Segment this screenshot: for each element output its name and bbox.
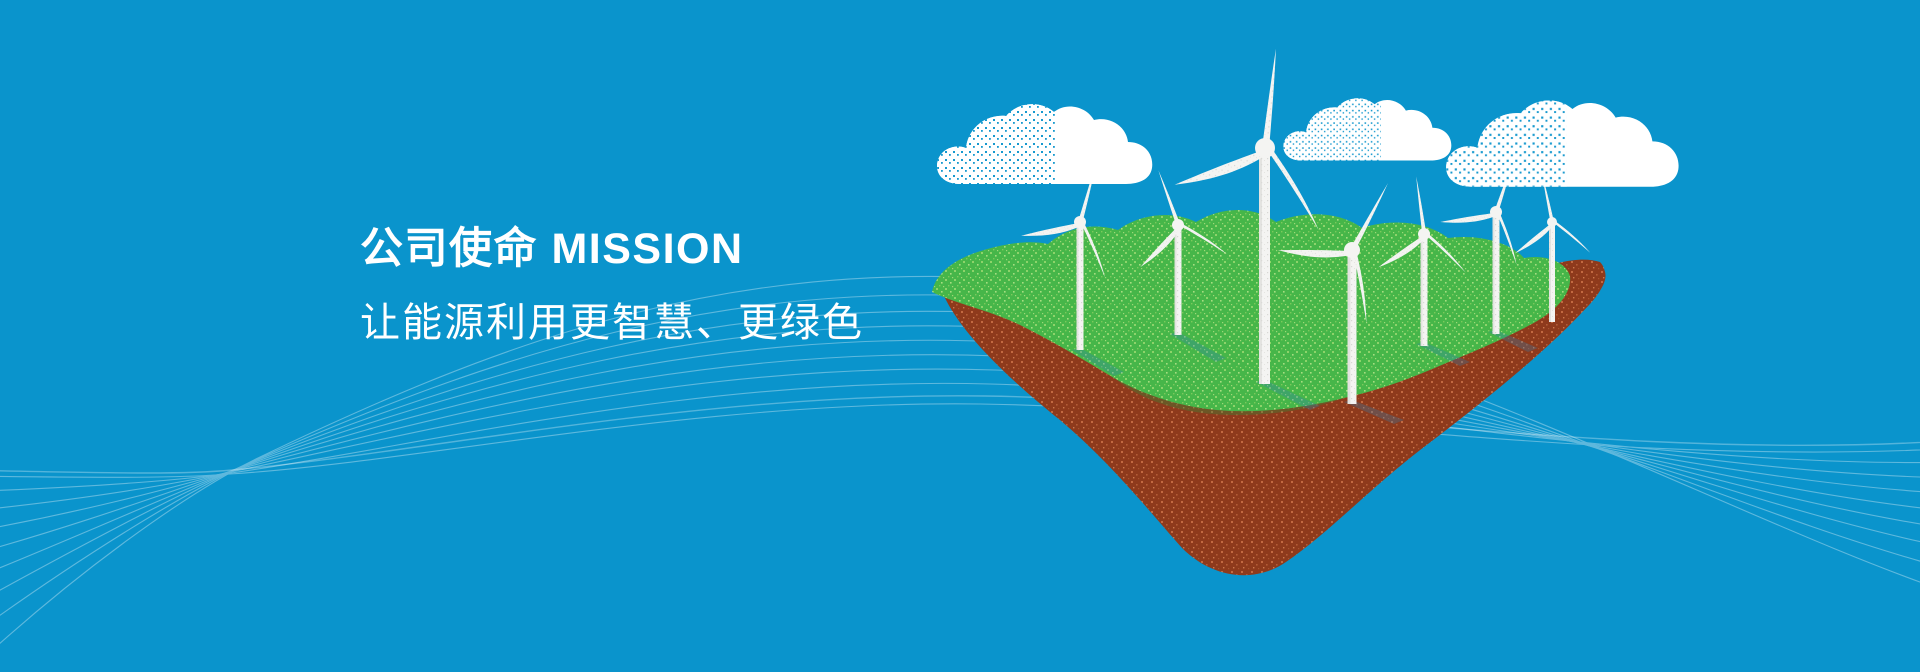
cloud-left [937, 104, 1152, 184]
turbine-3 [1172, 40, 1338, 384]
cloud-right [1446, 100, 1678, 186]
wind-turbines-group [1016, 40, 1590, 404]
page-title: 公司使命 MISSION [360, 224, 980, 275]
clouds-group [937, 98, 1679, 187]
turbine-2 [1111, 158, 1227, 335]
turbine-4 [1267, 152, 1429, 404]
page-subtitle: 让能源利用更智慧、更绿色 [360, 299, 980, 347]
cloud-middle [1283, 98, 1451, 160]
turbine-7 [1500, 167, 1591, 322]
turbine-5 [1367, 172, 1466, 346]
island-grass [932, 210, 1570, 411]
island-soil-right-lip [1525, 260, 1605, 354]
mission-copy-block: 公司使命 MISSION 让能源利用更智慧、更绿色 [360, 224, 980, 347]
turbine-6 [1435, 141, 1548, 334]
turbine-1 [1016, 148, 1133, 350]
mission-banner: 公司使命 MISSION 让能源利用更智慧、更绿色 [0, 0, 1920, 672]
island-group [932, 210, 1606, 575]
island-grass-shadow [1114, 378, 1344, 415]
island-soil [939, 266, 1605, 575]
turbine-shadows-group [1072, 330, 1538, 424]
